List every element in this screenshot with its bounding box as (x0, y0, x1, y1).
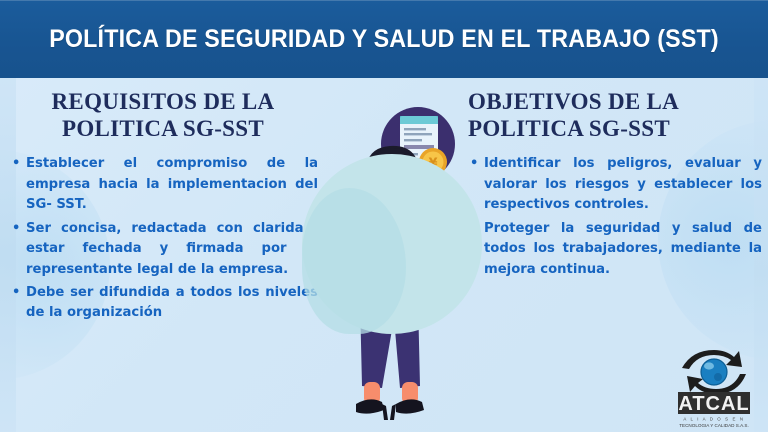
column-objetivos: OBJETIVOS DE LA POLITICA SG-SST Identifi… (466, 88, 762, 283)
column-requisitos: REQUISITOS DE LA POLITICA SG-SST Estable… (8, 88, 318, 327)
header-banner: POLÍTICA DE SEGURIDAD Y SALUD EN EL TRAB… (0, 0, 768, 78)
logo-tagline-line2: TECNOLOGIA Y CALIDAD S.A.S. (679, 423, 749, 428)
list-item: Ser concisa, redactada con claridad, est… (8, 219, 318, 280)
backdrop-circle (302, 154, 482, 334)
logo-tagline-line1: A L I A D O S E N (683, 417, 744, 422)
column-heading-objetivos: OBJETIVOS DE LA POLITICA SG-SST (466, 88, 762, 142)
illustration-thinking-woman: ¥ (296, 86, 482, 432)
list-item: Debe ser difundida a todos los niveles d… (8, 283, 318, 324)
list-item: Proteger la seguridad y salud de todos l… (466, 219, 762, 280)
atcal-logo: ATCAL A L I A D O S E N TECNOLOGIA Y CAL… (666, 338, 762, 430)
list-item: Establecer el compromiso de la empresa h… (8, 154, 318, 215)
list-item: Identificar los peligros, evaluar y valo… (466, 154, 762, 215)
page-title: POLÍTICA DE SEGURIDAD Y SALUD EN EL TRAB… (49, 25, 719, 54)
column-heading-requisitos: REQUISITOS DE LA POLITICA SG-SST (8, 88, 318, 142)
atcal-logo-icon: ATCAL A L I A D O S E N TECNOLOGIA Y CAL… (666, 338, 762, 430)
logo-wordmark: ATCAL (678, 393, 749, 415)
bullet-list-requisitos: Establecer el compromiso de la empresa h… (8, 154, 318, 324)
bullet-list-objetivos: Identificar los peligros, evaluar y valo… (466, 154, 762, 280)
slide-canvas: POLÍTICA DE SEGURIDAD Y SALUD EN EL TRAB… (0, 0, 768, 432)
